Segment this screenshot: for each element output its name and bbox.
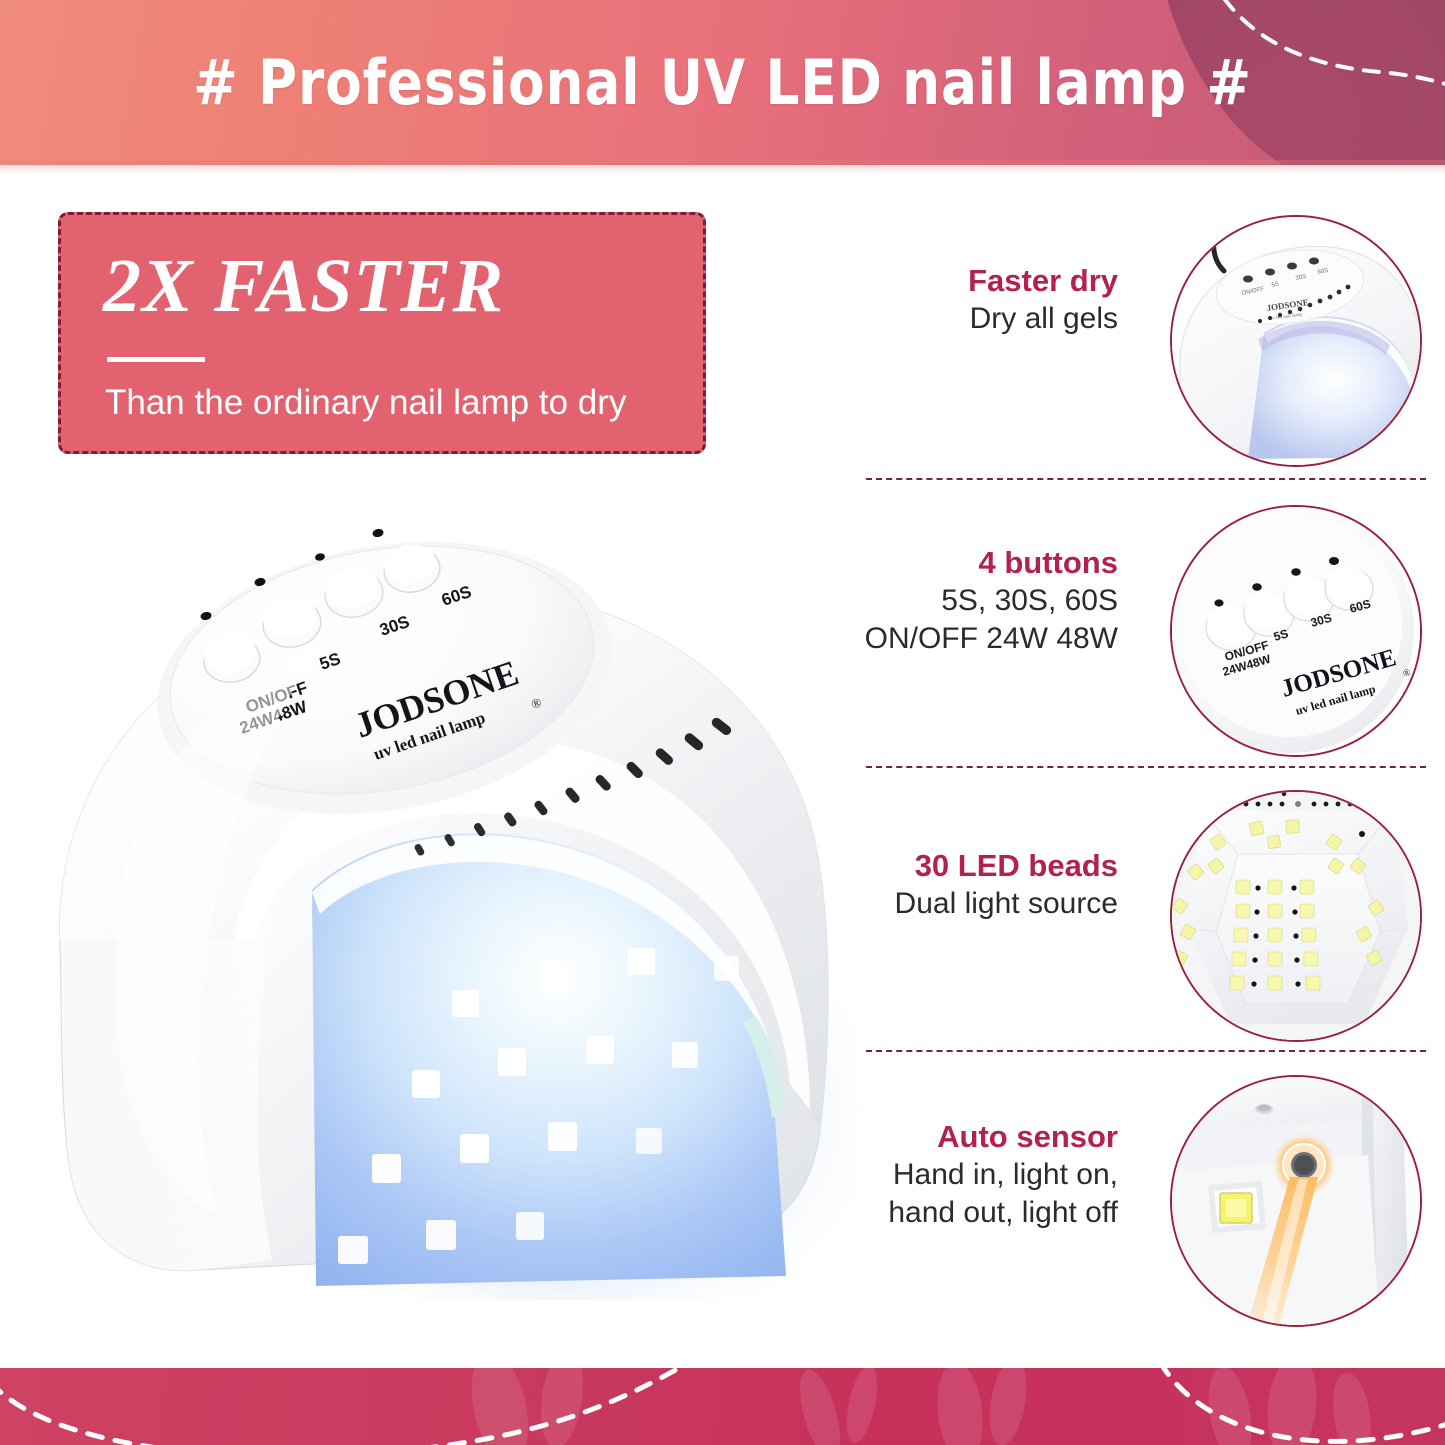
footer-dashed-curve-left-icon (0, 1368, 690, 1445)
auto-sensor-thumbnail (1170, 1075, 1422, 1327)
footer-band (0, 1368, 1445, 1445)
feature-divider-2 (866, 766, 1426, 768)
header-banner: # Professional UV LED nail lamp # (0, 0, 1445, 165)
feature-divider-3 (866, 1050, 1426, 1052)
promo-subtext: Than the ordinary nail lamp to dry (105, 383, 626, 423)
feature-desc-line: Hand in, light on, (858, 1157, 1118, 1193)
feature-desc-line: hand out, light off (858, 1195, 1118, 1231)
page-title: # Professional UV LED nail lamp # (101, 0, 1344, 165)
promo-divider-rule (107, 357, 205, 362)
main-product-image: ON/OFF 24W48W 5S 30S 60S JODSONE ® uv le… (20, 470, 860, 1300)
feature-desc-line: 5S, 30S, 60S (858, 583, 1118, 619)
infographic-page: # Professional UV LED nail lamp # 2X FAS… (0, 0, 1445, 1445)
feature-desc-line: Dry all gels (858, 301, 1118, 337)
feature-title: 30 LED beads (858, 848, 1118, 884)
feature-text-block: Faster dry Dry all gels (858, 263, 1118, 337)
feature-desc-line: Dual light source (858, 886, 1118, 922)
promo-2x-faster-box: 2X FASTER Than the ordinary nail lamp to… (58, 212, 706, 454)
feature-desc-line: ON/OFF 24W 48W (858, 621, 1118, 657)
feature-text-block: 30 LED beads Dual light source (858, 848, 1118, 922)
feature-title: 4 buttons (858, 545, 1118, 581)
feature-title: Faster dry (858, 263, 1118, 299)
feature-divider-1 (866, 478, 1426, 480)
feature-title: Auto sensor (858, 1119, 1118, 1155)
lamp-glowing-thumbnail: ON/OFF 5S 30S 60S JODSONE uv led nail la… (1170, 215, 1422, 467)
led-chamber-thumbnail (1170, 790, 1422, 1042)
promo-headline: 2X FASTER (103, 243, 504, 330)
feature-text-block: Auto sensor Hand in, light on, hand out,… (858, 1119, 1118, 1231)
header-fade (0, 160, 1445, 174)
control-panel-thumbnail: ON/OFF 24W48W 5S 30S 60S JODSONE ® uv le… (1170, 505, 1422, 757)
feature-text-block: 4 buttons 5S, 30S, 60S ON/OFF 24W 48W (858, 545, 1118, 657)
